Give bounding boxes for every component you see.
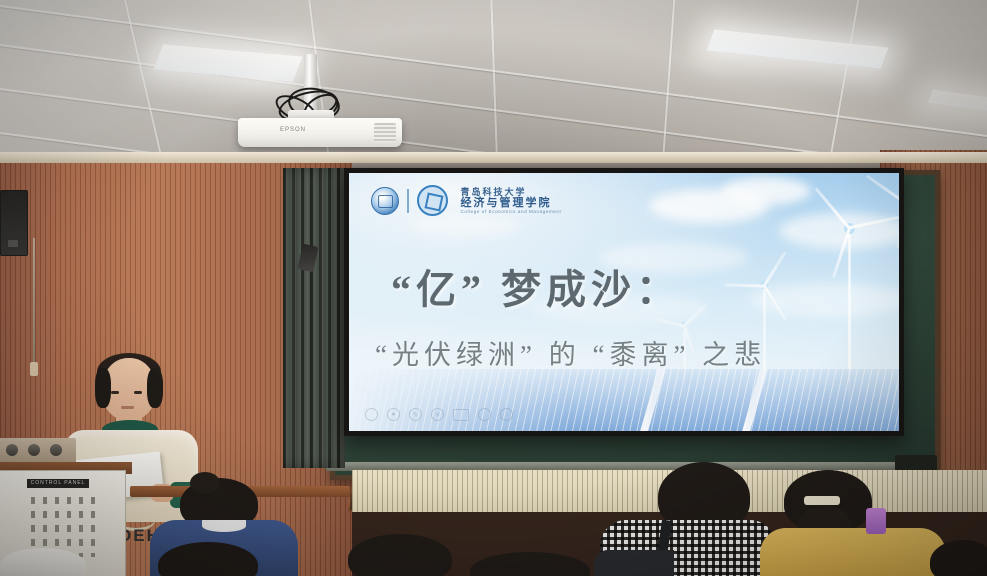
lectern-label: CONTROL PANEL [27,479,89,488]
presentation-slide[interactable]: 青岛科技大学 经济与管理学院 College of Economics and … [349,173,899,431]
university-name: 青岛科技大学 [461,187,562,197]
lecture-hall-photo: EPSON [0,0,987,576]
audience-person-far-right [930,540,987,576]
audience-collar [202,520,246,532]
audience-hair [930,540,987,576]
close-icon[interactable]: ✕ [431,408,444,421]
audience-hair-bun [190,472,220,494]
wind-turbine-3 [882,197,899,397]
hanging-cord [33,238,35,368]
college-name-english: College of Economics and Management [461,209,562,214]
university-seal-icon [371,187,399,215]
audience-person-front-left [150,542,290,576]
phone-screen[interactable] [866,508,886,534]
projector: EPSON [238,118,402,147]
pen-icon[interactable] [365,408,378,421]
slide-title: “亿” 梦成沙： [391,257,681,315]
presenter-hair-right [147,368,163,408]
presenter-hair-left [95,368,111,408]
cloud-5 [409,215,519,237]
cloud-2 [721,177,811,205]
slide-annotation-toolbar[interactable]: ● ✎ ✕ · [365,408,513,421]
projector-vent [374,123,396,142]
slide-subtitle: “光伏绿洲” 的 “黍离” 之悲 [375,333,766,372]
audience-hair [470,552,590,576]
wall-trim [0,152,987,163]
presenter-eye-left [111,391,119,394]
projection-screen[interactable]: 青岛科技大学 经济与管理学院 College of Economics and … [344,168,904,436]
eraser-icon[interactable] [478,408,491,421]
suspended-ceiling [0,0,987,168]
highlighter-icon[interactable]: ✎ [409,408,422,421]
cord-weight [30,362,38,376]
institution-logo-block: 青岛科技大学 经济与管理学院 College of Economics and … [371,185,561,216]
audience-person-dark-bottom [470,552,630,576]
presenter-mouth [121,406,134,409]
turbine-blade [896,202,899,248]
ceiling-shading [0,0,987,168]
more-icon[interactable]: · [500,408,513,421]
solar-panel-array [349,369,899,431]
audience-hair [348,534,452,576]
wall-speaker [0,190,28,256]
curtain-folds [283,168,345,468]
turbine-blade [763,285,786,320]
av-equipment [0,438,76,464]
audience-clothing-mustard [760,528,946,576]
college-emblem-icon [417,185,448,216]
window-curtain [283,168,345,468]
audience-hair [158,542,258,576]
pointer-icon[interactable]: ● [387,408,400,421]
logo-divider [407,189,409,213]
audience-person-dark-left [330,534,480,576]
solar-haze [349,369,569,431]
projector-brand-label: EPSON [280,127,306,133]
audience-person-white-cap [0,548,90,576]
college-name: 经济与管理学院 [461,197,562,209]
institution-text: 青岛科技大学 经济与管理学院 College of Economics and … [461,187,562,214]
rectangle-icon[interactable] [453,409,469,421]
hair-clip [804,496,840,505]
white-cap [0,548,86,576]
presenter-eye-right [134,391,142,394]
audience-person-mustard [760,470,950,576]
